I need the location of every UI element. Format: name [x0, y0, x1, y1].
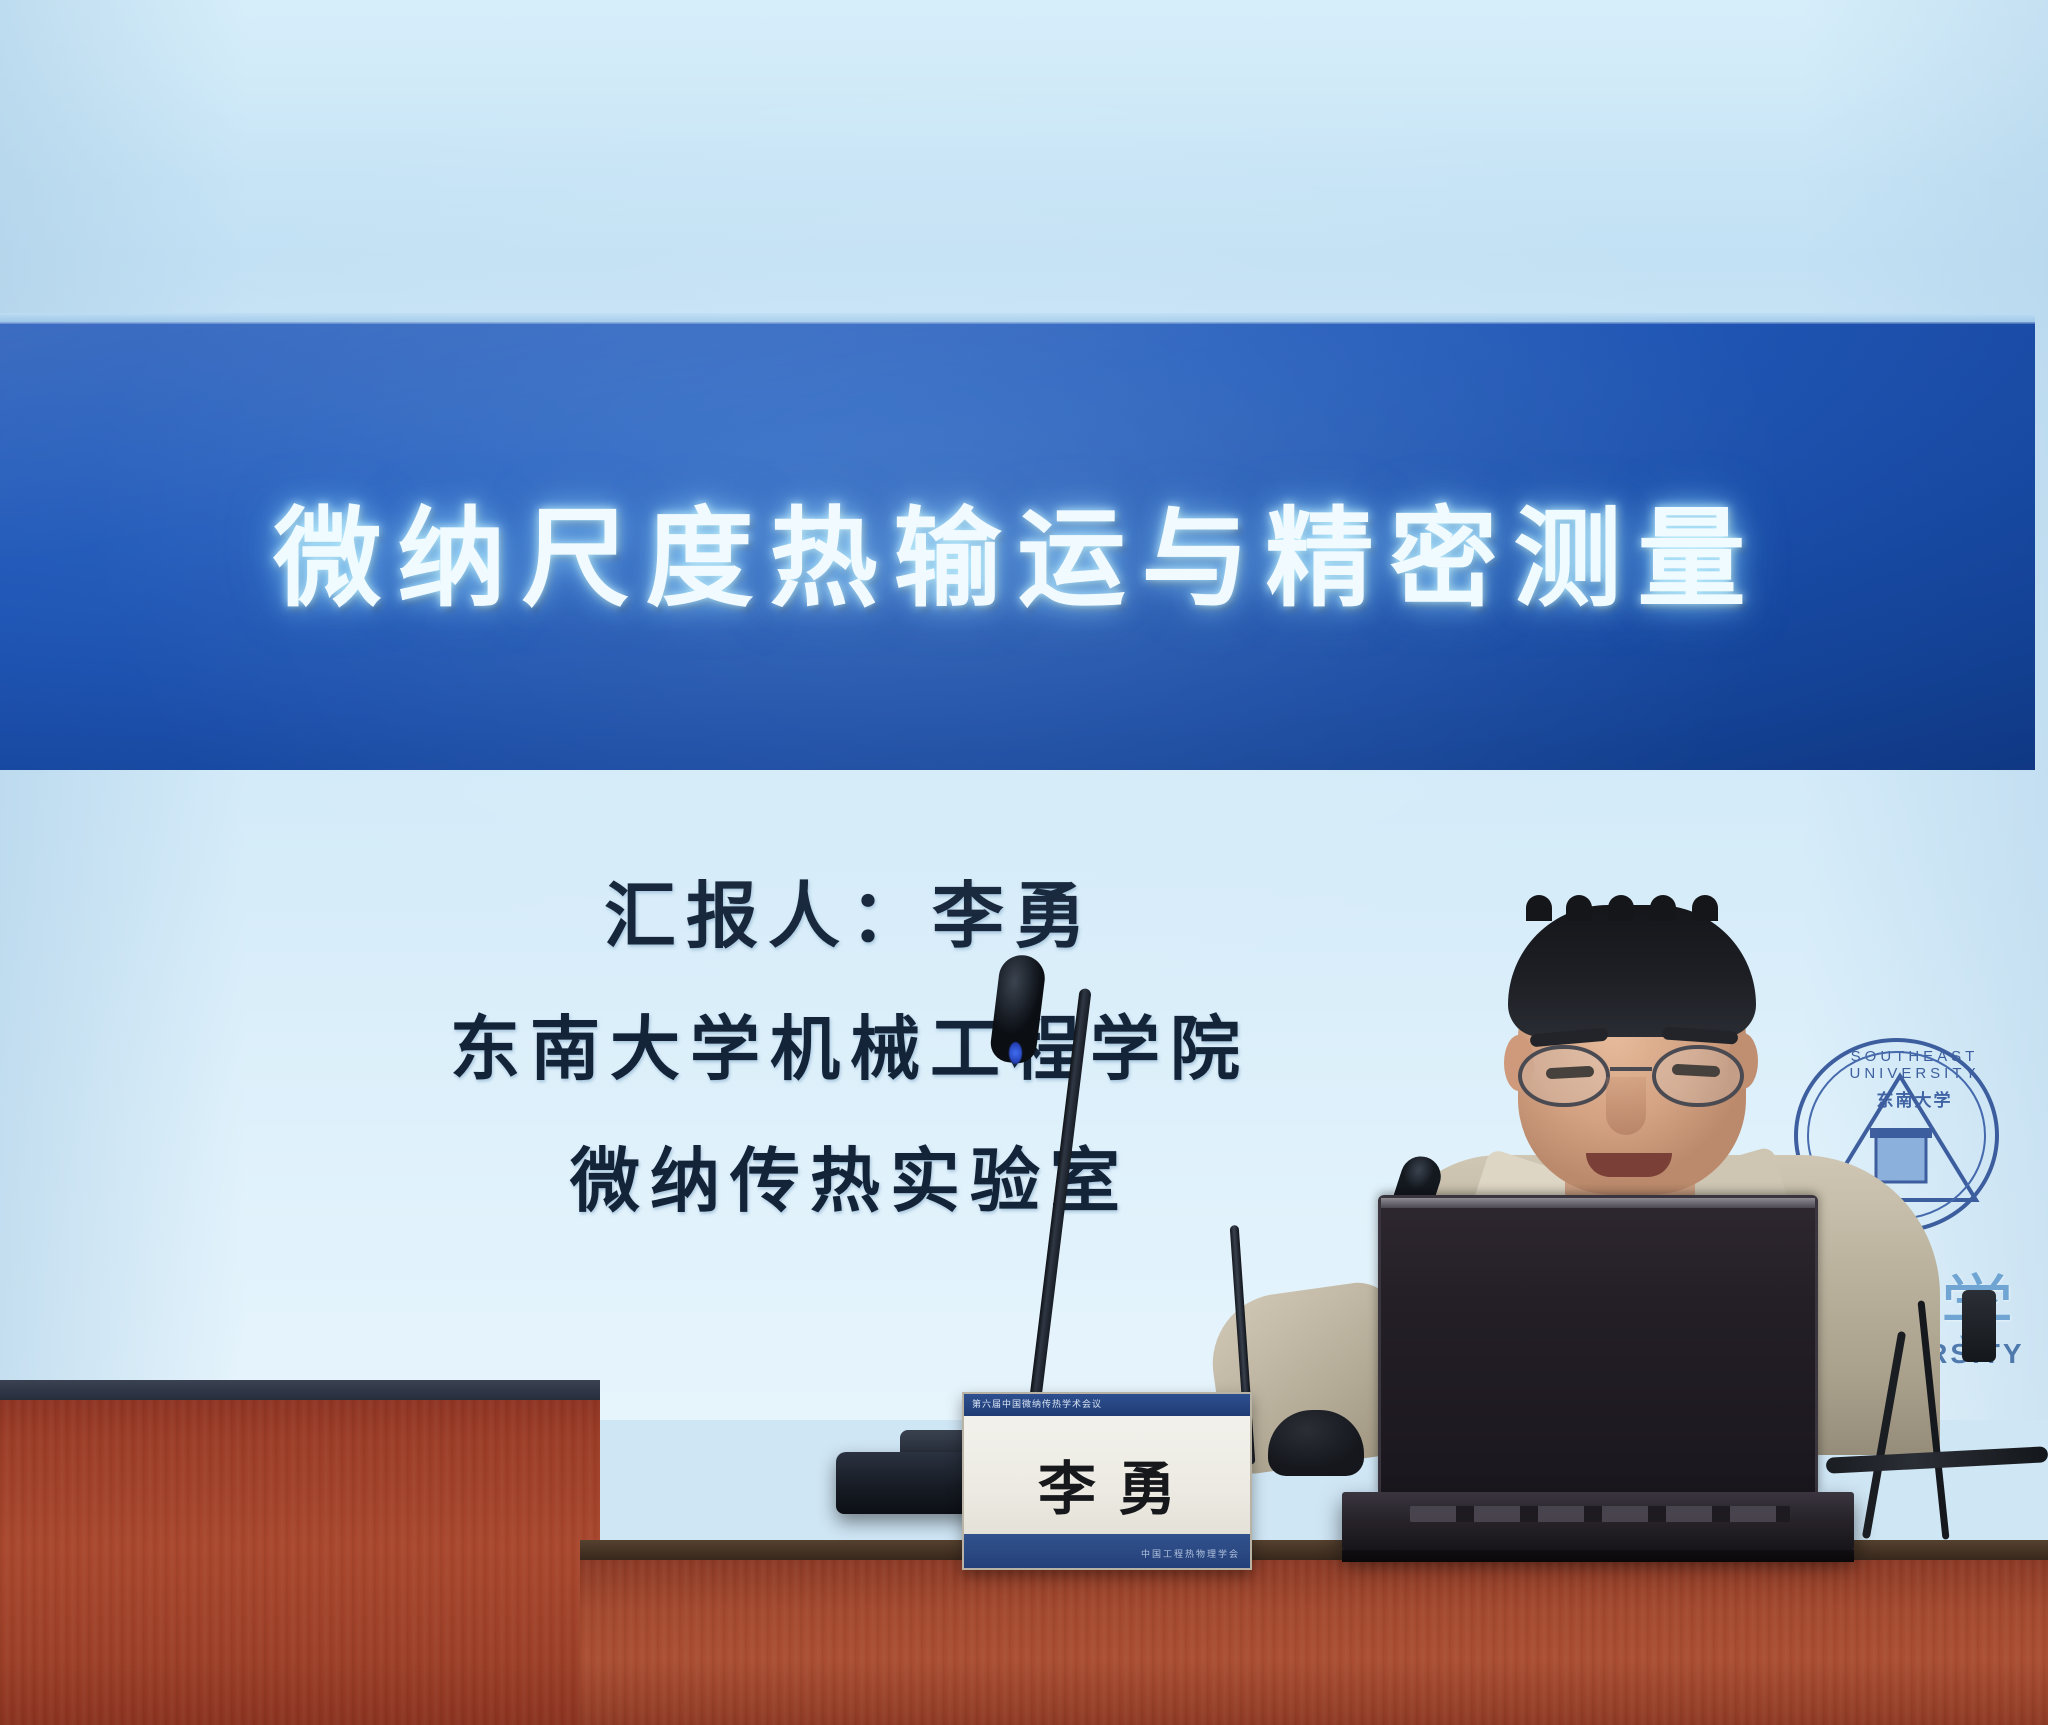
- nameplate-footer-text: 中国工程热物理学会: [1141, 1547, 1240, 1560]
- desk-front-panel-left: [0, 1400, 600, 1725]
- presenter-mouth: [1586, 1153, 1672, 1177]
- nameplate-name-text: 李勇: [964, 1442, 1250, 1526]
- laptop-bezel: [1381, 1198, 1815, 1208]
- desk-front-panel-main: [580, 1560, 2048, 1725]
- nameplate-header-bar: 第六届中国微纳传热学术会议: [964, 1394, 1250, 1416]
- desk-nameplate: 第六届中国微纳传热学术会议 李勇 中国工程热物理学会: [962, 1392, 1252, 1570]
- microphone-led-indicator: [1009, 1042, 1022, 1064]
- laptop-screen: [1378, 1195, 1818, 1495]
- cable-connector: [1962, 1290, 1996, 1362]
- laptop-base: [1342, 1492, 1854, 1554]
- nameplate-footer-bar: 中国工程热物理学会: [964, 1534, 1250, 1568]
- laptop-port-strip: [1410, 1506, 1790, 1522]
- presentation-photo-scene: 微纳尺度热输运与精密测量 汇报人：李勇 东南大学机械工程学院 微纳传热实验室 S…: [0, 0, 2048, 1725]
- presenter-hair: [1508, 905, 1756, 1037]
- slide-title: 微纳尺度热输运与精密测量: [0, 472, 2035, 628]
- presenter-nose: [1606, 1077, 1646, 1135]
- nameplate-header-text: 第六届中国微纳传热学术会议: [972, 1397, 1102, 1410]
- slide-title-banner: 微纳尺度热输运与精密测量: [0, 322, 2035, 770]
- laptop-foot: [1342, 1550, 1854, 1562]
